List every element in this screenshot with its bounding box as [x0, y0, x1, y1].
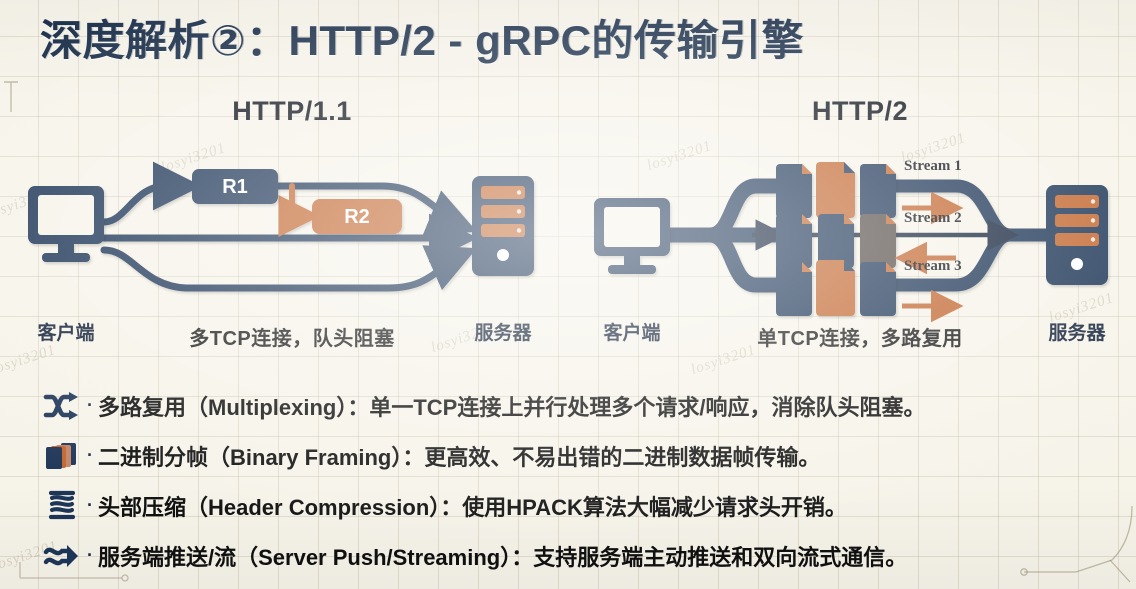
frame — [860, 214, 896, 268]
server-icon-http2 — [1046, 185, 1108, 285]
frame — [818, 214, 854, 268]
frame — [776, 164, 812, 218]
list-item: · 二进制分帧（Binary Framing）：更高效、不易出错的二进制数据帧传… — [42, 432, 1102, 480]
panel-http2: HTTP/2 — [584, 96, 1136, 356]
page-title: 深度解析②：HTTP/2 - gRPC的传输引擎 — [40, 12, 1100, 70]
caption-http11: 多TCP连接，队头阻塞 — [16, 322, 568, 351]
frame — [860, 164, 896, 218]
request-box-r1: R1 — [192, 169, 278, 204]
caption-http2: 单TCP连接，多路复用 — [584, 322, 1136, 351]
slide-canvas: losyi3201 losyi3201 losyi3201 losyi3201 … — [0, 0, 1136, 589]
frame — [860, 262, 896, 316]
wave-arrow-icon — [42, 536, 82, 576]
bullet-marker: · — [82, 446, 98, 467]
list-item-text: 多路复用（Multiplexing）：单一TCP连接上并行处理多个请求/响应，消… — [98, 390, 925, 422]
diagram-http11: R1 R2 — [16, 128, 568, 318]
stream-3-frames — [776, 260, 896, 316]
bullet-marker: · — [82, 396, 98, 417]
feature-list: · 多路复用（Multiplexing）：单一TCP连接上并行处理多个请求/响应… — [42, 382, 1102, 582]
list-item-text: 头部压缩（Header Compression）：使用HPACK算法大幅减少请求… — [98, 490, 847, 522]
panel-title-http11: HTTP/1.1 — [16, 96, 568, 127]
layered-files-icon — [42, 436, 82, 476]
client-icon-http2 — [594, 198, 670, 274]
frame — [816, 260, 855, 316]
server-icon-http11 — [472, 176, 534, 276]
r2-label: R2 — [344, 206, 370, 228]
client-icon-http11 — [28, 186, 104, 262]
stream-2-frames — [776, 214, 896, 268]
diagram-http2: Stream 1 Stream 2 Stream 3 — [584, 128, 1136, 318]
list-item: · 头部压缩（Header Compression）：使用HPACK算法大幅减少… — [42, 482, 1102, 530]
list-item: · 服务端推送/流（Server Push/Streaming）：支持服务端主动… — [42, 532, 1102, 580]
stream-1-label: Stream 1 — [904, 158, 962, 174]
panel-http11: HTTP/1.1 — [16, 96, 568, 356]
r1-label: R1 — [222, 176, 248, 198]
list-item-text: 服务端推送/流（Server Push/Streaming）：支持服务端主动推送… — [98, 540, 907, 572]
panel-title-http2: HTTP/2 — [584, 96, 1136, 127]
frame — [776, 214, 812, 268]
frame — [816, 162, 855, 218]
shuffle-icon — [42, 386, 82, 426]
bullet-marker: · — [82, 496, 98, 517]
list-item-text: 二进制分帧（Binary Framing）：更高效、不易出错的二进制数据帧传输。 — [98, 440, 820, 472]
frame — [776, 262, 812, 316]
compress-spring-icon — [42, 486, 82, 526]
list-item: · 多路复用（Multiplexing）：单一TCP连接上并行处理多个请求/响应… — [42, 382, 1102, 430]
bullet-marker: · — [82, 546, 98, 567]
stream-3-label: Stream 3 — [904, 258, 962, 274]
stream-1-frames — [776, 162, 896, 218]
stream-2-label: Stream 2 — [904, 210, 962, 226]
request-box-r2: R2 — [312, 199, 402, 234]
